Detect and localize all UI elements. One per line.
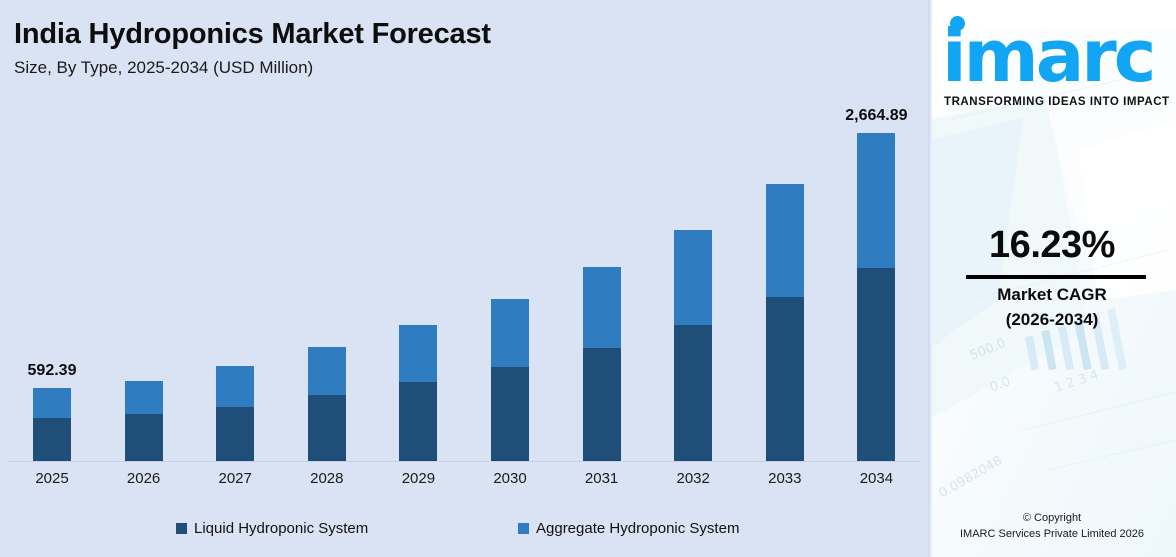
x-axis-tick-2030: 2030 [465, 470, 555, 487]
bar-segment-liquid-2028 [308, 395, 346, 461]
x-axis-tick-2033: 2033 [740, 470, 830, 487]
bar-segment-liquid-2034 [857, 268, 895, 461]
copyright-line-1: © Copyright [928, 512, 1176, 524]
bar-segment-aggregate-2030 [491, 299, 529, 367]
bar-segment-aggregate-2027 [216, 366, 254, 407]
bar-segment-liquid-2030 [491, 367, 529, 461]
x-axis-line [8, 461, 920, 462]
x-axis-tick-2032: 2032 [648, 470, 738, 487]
bar-segment-aggregate-2031 [583, 267, 621, 348]
bar-group-2033 [766, 184, 804, 461]
legend-label: Liquid Hydroponic System [194, 520, 368, 537]
chart-panel: India Hydroponics Market Forecast Size, … [0, 0, 928, 557]
logo-wordmark: imarc [942, 20, 1153, 92]
cagr-period: (2026-2034) [928, 310, 1176, 330]
logo-tagline: TRANSFORMING IDEAS INTO IMPACT [944, 96, 1176, 108]
legend-label: Aggregate Hydroponic System [536, 520, 739, 537]
bar-group-2032 [674, 230, 712, 461]
x-axis-tick-2029: 2029 [373, 470, 463, 487]
bar-segment-liquid-2032 [674, 325, 712, 461]
bar-group-2025 [33, 388, 71, 461]
chart-legend: Liquid Hydroponic SystemAggregate Hydrop… [0, 518, 928, 546]
bar-segment-liquid-2031 [583, 348, 621, 461]
bar-segment-aggregate-2025 [33, 388, 71, 418]
x-axis-tick-2025: 2025 [7, 470, 97, 487]
bar-group-2030 [491, 299, 529, 461]
x-axis-tick-2028: 2028 [282, 470, 372, 487]
bar-group-2029 [399, 325, 437, 461]
bar-segment-aggregate-2034 [857, 133, 895, 268]
legend-swatch-icon [518, 523, 529, 534]
bar-segment-liquid-2025 [33, 418, 71, 461]
copyright-line-2: IMARC Services Private Limited 2026 [928, 528, 1176, 540]
bar-segment-liquid-2029 [399, 382, 437, 461]
bar-segment-aggregate-2033 [766, 184, 804, 297]
bar-group-2028 [308, 347, 346, 461]
cagr-value: 16.23% [928, 224, 1176, 267]
plot-area: 592.392,664.89 2025202620272028202920302… [0, 0, 928, 495]
brand-panel: 500.0 0.0 1 2 3 4 0.0982048 imarc TRANSF… [928, 0, 1176, 557]
cagr-divider [966, 275, 1146, 279]
bar-segment-liquid-2033 [766, 297, 804, 461]
x-axis-tick-2027: 2027 [190, 470, 280, 487]
bar-group-2031 [583, 267, 621, 461]
legend-item-liquid[interactable]: Liquid Hydroponic System [176, 520, 368, 537]
legend-item-aggregate[interactable]: Aggregate Hydroponic System [518, 520, 739, 537]
x-axis-tick-2031: 2031 [557, 470, 647, 487]
legend-swatch-icon [176, 523, 187, 534]
x-axis-tick-2026: 2026 [99, 470, 189, 487]
cagr-label: Market CAGR [928, 285, 1176, 305]
bar-segment-aggregate-2032 [674, 230, 712, 325]
bar-group-2027 [216, 366, 254, 461]
bar-segment-aggregate-2029 [399, 325, 437, 382]
bar-value-label-2025: 592.39 [0, 362, 127, 380]
chart-screenshot: India Hydroponics Market Forecast Size, … [0, 0, 1176, 557]
imarc-logo: imarc TRANSFORMING IDEAS INTO IMPACT [928, 8, 1176, 106]
bar-segment-aggregate-2026 [125, 381, 163, 414]
bar-group-2026 [125, 381, 163, 461]
x-axis-tick-2034: 2034 [831, 470, 921, 487]
bar-segment-liquid-2027 [216, 407, 254, 461]
bar-group-2034 [857, 133, 895, 461]
bar-segment-liquid-2026 [125, 414, 163, 461]
bar-segment-aggregate-2028 [308, 347, 346, 395]
